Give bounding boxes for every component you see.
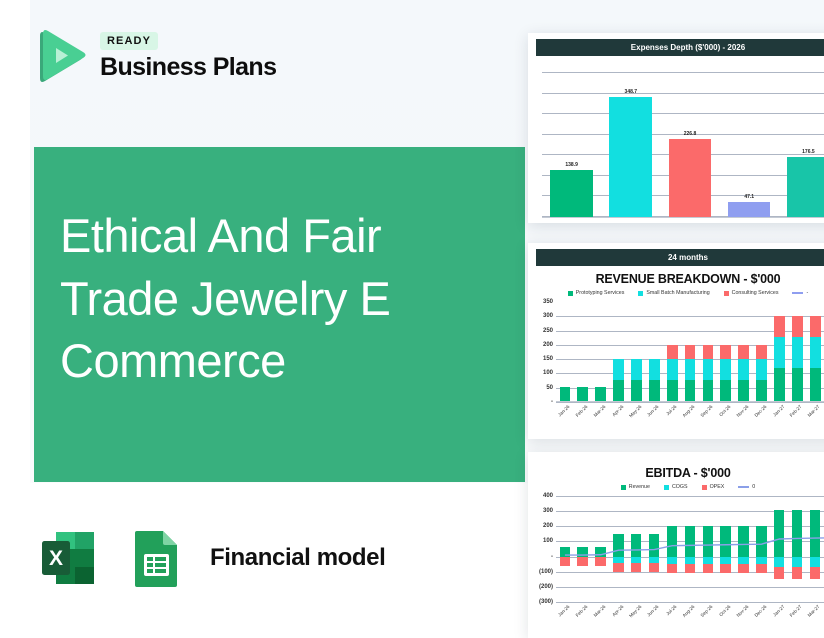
bar (669, 139, 712, 218)
y-axis-tick: 300 (543, 313, 553, 319)
x-axis-tick-label: Dec-26 (753, 404, 767, 418)
y-axis-tick: - (551, 554, 553, 560)
stacked-bar-segment (685, 345, 696, 359)
gridline (542, 93, 824, 94)
y-axis-tick: 100 (543, 370, 553, 376)
stacked-bar-segment (667, 359, 678, 380)
stacked-bar-segment (738, 380, 749, 402)
stacked-bar-segment (685, 359, 696, 380)
gridline (542, 72, 824, 73)
y-axis-tick: - (551, 399, 553, 405)
ebitda-chart-legend: RevenueCOGSOPEX0 (528, 484, 824, 490)
y-axis-tick: 300 (543, 508, 553, 514)
stacked-bar-segment (577, 387, 588, 402)
revenue-chart-banner: 24 months (536, 249, 824, 266)
y-axis-tick: (300) (539, 599, 553, 605)
x-axis-tick-label: Jan-26 (557, 404, 570, 417)
stacked-bar-segment (756, 380, 767, 402)
stacked-bar-segment (703, 380, 714, 402)
x-axis-tick-label: Feb-26 (575, 604, 589, 618)
y-axis-tick: 50 (546, 385, 553, 391)
stacked-bar-segment (792, 337, 803, 368)
y-axis-tick: (100) (539, 569, 553, 575)
legend-swatch-icon (738, 486, 749, 488)
legend-item-0: Prototyping Services (568, 290, 625, 296)
legend-item-3: - (792, 290, 808, 296)
revenue-chart-legend: Prototyping ServicesSmall Batch Manufact… (528, 290, 824, 296)
stacked-bar-segment (667, 380, 678, 402)
stacked-bar-segment (774, 368, 785, 402)
x-axis-tick-label: Jul-26 (665, 404, 677, 416)
legend-label: Prototyping Services (576, 290, 625, 296)
brand-text: READY Business Plans (100, 32, 276, 82)
y-axis-tick: 350 (543, 299, 553, 305)
x-axis-tick-label: May-26 (628, 404, 642, 418)
x-axis-tick-label: Nov-26 (735, 404, 749, 418)
brand-name: Business Plans (100, 53, 276, 82)
legend-item-2: Consulting Services (724, 290, 779, 296)
x-axis-tick-label: Apr-26 (611, 604, 624, 617)
legend-swatch-icon (621, 485, 626, 490)
bar-value-label: 348.7 (625, 89, 638, 95)
stacked-bar-segment (703, 345, 714, 359)
legend-label: Small Batch Manufacturing (646, 290, 709, 296)
x-axis-tick-label: Sep-26 (700, 604, 714, 618)
ebitda-chart-xaxis: Jan-26Feb-26Mar-26Apr-26May-26Jun-26Jul-… (556, 602, 824, 628)
axis-line (542, 217, 824, 218)
svg-text:X: X (49, 547, 63, 570)
stacked-bar-segment (738, 345, 749, 359)
x-axis-tick-label: Jan-27 (772, 404, 785, 417)
stacked-bar-segment (649, 359, 660, 380)
stacked-bar-segment (810, 368, 821, 402)
legend-swatch-icon (724, 291, 729, 296)
x-axis-tick-label: Mar-26 (593, 404, 607, 418)
legend-label: COGS (672, 484, 688, 490)
stacked-bar-segment (595, 387, 606, 402)
stacked-bar-segment (685, 380, 696, 402)
x-axis-tick-label: Jul-26 (665, 604, 677, 616)
gridline (542, 113, 824, 114)
ebitda-chart-plot: 400300200100-(100)(200)(300) (556, 496, 824, 602)
legend-label: OPEX (710, 484, 725, 490)
x-axis-tick-label: Jun-26 (647, 604, 660, 617)
legend-swatch-icon (664, 485, 669, 490)
brand-logo: READY Business Plans (34, 28, 276, 86)
x-axis-tick-label: Aug-26 (682, 404, 696, 418)
stacked-bar-segment (792, 316, 803, 337)
x-axis-tick-label: Mar-27 (807, 404, 821, 418)
bar (787, 157, 824, 218)
x-axis-tick-label: Sep-26 (700, 404, 714, 418)
bar-value-label: 226.8 (684, 131, 697, 137)
stacked-bar-segment (613, 380, 624, 402)
legend-item-0: Revenue (621, 484, 650, 490)
chart-card-ebitda: EBITDA - $'000 RevenueCOGSOPEX0 40030020… (528, 452, 824, 638)
stacked-bar-segment (738, 359, 749, 380)
play-triangle-logo-icon (34, 28, 88, 86)
x-axis-tick-label: May-26 (628, 604, 642, 618)
y-axis-tick: 250 (543, 328, 553, 334)
x-axis-tick-label: Mar-27 (807, 604, 821, 618)
x-axis-tick-label: Jan-26 (557, 604, 570, 617)
x-axis-tick-label: Jan-27 (772, 604, 785, 617)
bar-value-label: 47.1 (744, 194, 754, 200)
y-axis-tick: (200) (539, 584, 553, 590)
x-axis-tick-label: Aug-26 (682, 604, 696, 618)
legend-label: Consulting Services (732, 290, 779, 296)
bar-value-label: 176.5 (802, 149, 815, 155)
x-axis-tick-label: Mar-26 (593, 604, 607, 618)
legend-label: Revenue (629, 484, 650, 490)
stacked-bar-segment (720, 345, 731, 359)
bar (609, 97, 652, 218)
hero-title-block: Ethical And Fair Trade Jewelry E Commerc… (34, 147, 525, 482)
stacked-bar-segment (703, 359, 714, 380)
x-axis-tick-label: Oct-26 (718, 604, 731, 617)
stacked-bar-segment (631, 380, 642, 402)
x-axis-tick-label: Feb-26 (575, 404, 589, 418)
legend-item-3: 0 (738, 484, 755, 490)
stacked-bar-segment (720, 359, 731, 380)
bar (550, 170, 593, 218)
stacked-bar-segment (774, 337, 785, 368)
legend-item-1: COGS (664, 484, 688, 490)
x-axis-tick-label: Feb-27 (789, 604, 803, 618)
y-axis-tick: 200 (543, 342, 553, 348)
footer-label: Financial model (210, 544, 385, 572)
stacked-bar-segment (560, 387, 571, 402)
y-axis-tick: 150 (543, 356, 553, 362)
stacked-bar-segment (756, 345, 767, 359)
legend-label: 0 (752, 484, 755, 490)
legend-label: - (806, 290, 808, 296)
legend-swatch-icon (792, 292, 803, 294)
stacked-bar-segment (792, 368, 803, 402)
stacked-bar-segment (613, 359, 624, 380)
stacked-bar-segment (810, 337, 821, 368)
x-axis-tick-label: Feb-27 (789, 404, 803, 418)
x-axis-tick-label: Dec-26 (753, 604, 767, 618)
google-sheets-icon (118, 522, 190, 594)
poster-canvas: READY Business Plans Ethical And Fair Tr… (0, 0, 824, 631)
revenue-chart-xaxis: Jan-26Feb-26Mar-26Apr-26May-26Jun-26Jul-… (556, 402, 824, 430)
legend-swatch-icon (702, 485, 707, 490)
page-title: Ethical And Fair Trade Jewelry E Commerc… (60, 205, 500, 393)
stacked-bar-segment (649, 380, 660, 402)
chart-card-expenses: Expenses Depth ($'000) - 2026 138.9348.7… (528, 33, 824, 223)
stacked-bar-segment (720, 380, 731, 402)
legend-item-2: OPEX (702, 484, 725, 490)
x-axis-tick-label: Apr-26 (611, 404, 624, 417)
legend-swatch-icon (638, 291, 643, 296)
footer-row: X Financial model (32, 522, 385, 594)
x-axis-tick-label: Oct-26 (718, 404, 731, 417)
expenses-chart-plot: 138.9348.7226.847.1176.5 (542, 72, 824, 218)
bar-value-label: 138.9 (565, 162, 578, 168)
revenue-chart-plot: 35030025020015010050- (556, 302, 824, 402)
y-axis-tick: 200 (543, 523, 553, 529)
stacked-bar-segment (631, 359, 642, 380)
stacked-bar-segment (774, 316, 785, 337)
zero-reference-line (556, 496, 824, 602)
bar (728, 202, 771, 218)
stacked-bar-segment (756, 359, 767, 380)
excel-icon: X (32, 522, 104, 594)
expenses-chart-banner: Expenses Depth ($'000) - 2026 (536, 39, 824, 56)
stacked-bar-segment (810, 316, 821, 337)
x-axis-tick-label: Jun-26 (647, 404, 660, 417)
ready-badge: READY (100, 32, 158, 50)
y-axis-tick: 400 (543, 493, 553, 499)
stacked-bar-segment (667, 345, 678, 359)
legend-item-1: Small Batch Manufacturing (638, 290, 709, 296)
legend-swatch-icon (568, 291, 573, 296)
chart-card-revenue: 24 months REVENUE BREAKDOWN - $'000 Prot… (528, 243, 824, 439)
y-axis-tick: 100 (543, 538, 553, 544)
x-axis-tick-label: Nov-26 (735, 604, 749, 618)
revenue-chart-title: REVENUE BREAKDOWN - $'000 (528, 272, 824, 286)
ebitda-chart-title: EBITDA - $'000 (528, 466, 824, 480)
